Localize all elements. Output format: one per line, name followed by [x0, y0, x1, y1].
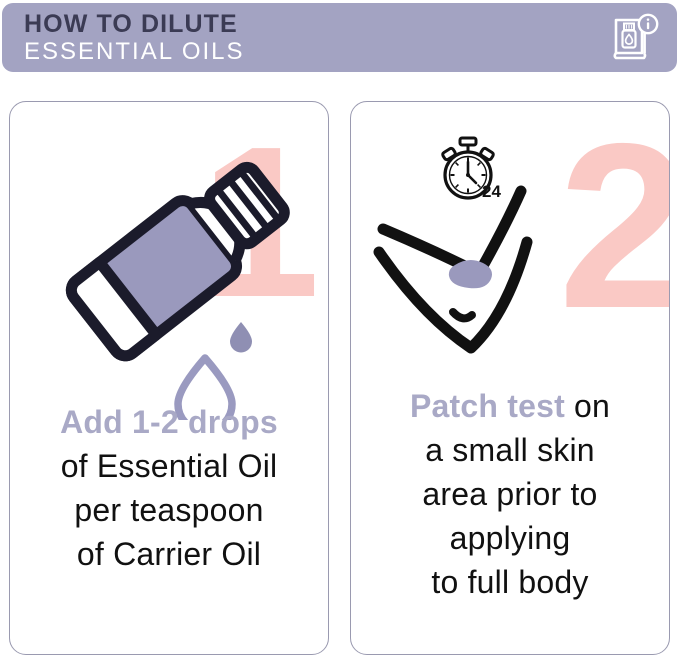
card-1-text: Add 1-2 drops of Essential Oil per teasp…	[10, 400, 328, 576]
card-2-line-1: Patch test on	[361, 384, 659, 428]
arm-patch-test-timer-icon: 24	[365, 132, 655, 367]
page-subtitle: ESSENTIAL OILS	[24, 38, 245, 66]
card-2-line-1-suffix: on	[565, 388, 610, 424]
card-2-line-4: applying	[361, 516, 659, 560]
page-title: HOW TO DILUTE	[24, 10, 245, 38]
infographic-page: HOW TO DILUTE ESSENTIAL OILS	[0, 0, 679, 671]
card-1-line-3: per teaspoon	[20, 488, 318, 532]
step-card-2: 2	[350, 101, 670, 655]
card-1-line-1: Add 1-2 drops	[20, 400, 318, 444]
card-1-line-2: of Essential Oil	[20, 444, 318, 488]
card-2-accent-phrase: Patch test	[410, 388, 565, 424]
card-2-line-2: a small skin	[361, 428, 659, 472]
card-2-line-3: area prior to	[361, 472, 659, 516]
step-card-1: 1	[9, 101, 329, 655]
timer-hours-label: 24	[482, 182, 501, 201]
oil-bottle-dropping-icon	[24, 130, 324, 425]
card-1-line-4: of Carrier Oil	[20, 532, 318, 576]
oil-bottle-info-icon	[608, 13, 660, 63]
header-bar: HOW TO DILUTE ESSENTIAL OILS	[2, 3, 677, 72]
card-2-text: Patch test on a small skin area prior to…	[351, 384, 669, 604]
header-title-group: HOW TO DILUTE ESSENTIAL OILS	[24, 10, 245, 66]
card-2-line-5: to full body	[361, 560, 659, 604]
